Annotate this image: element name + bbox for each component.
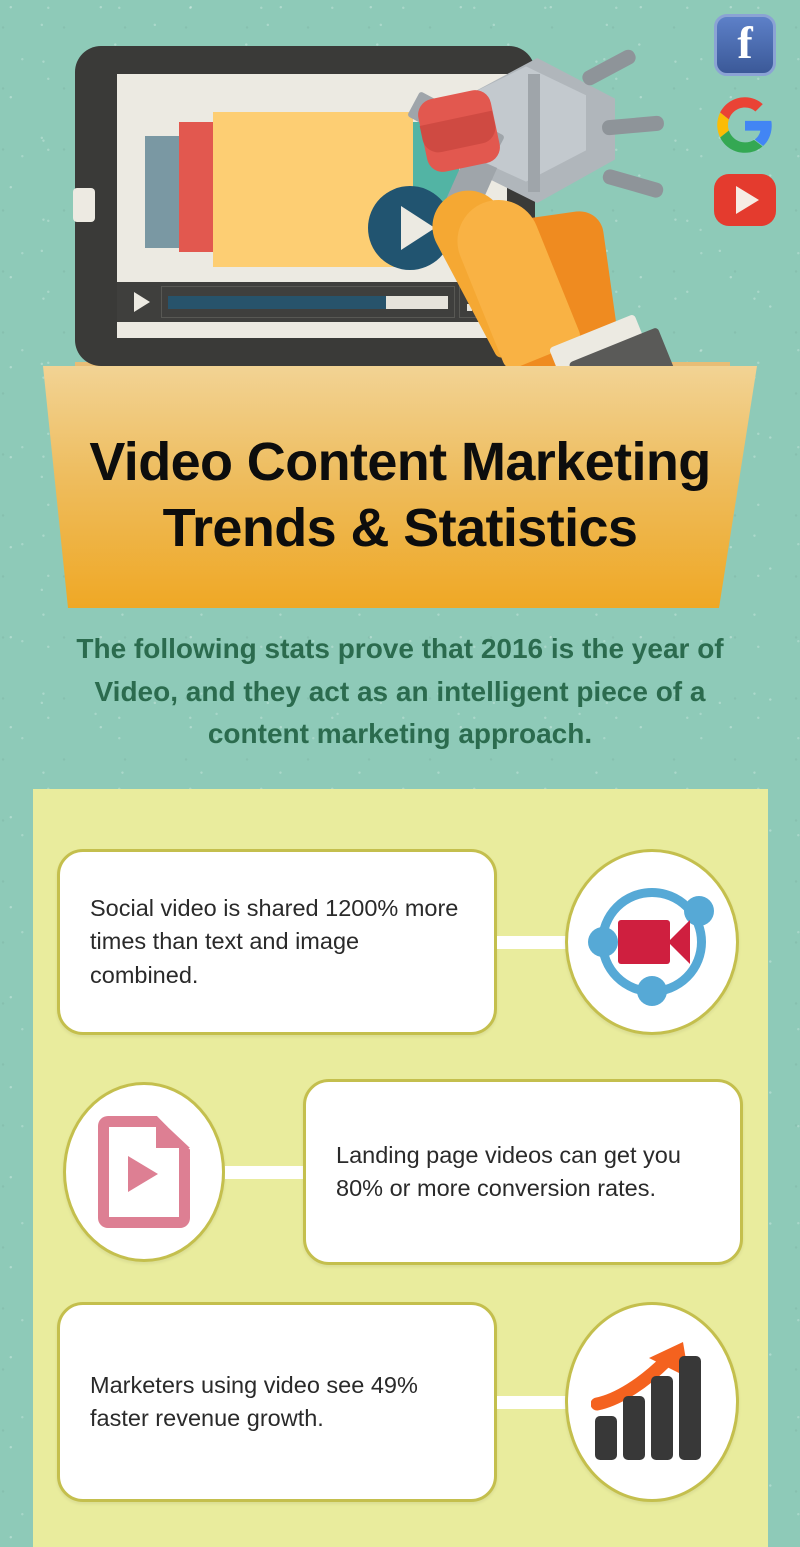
- stat-card[interactable]: Social video is shared 1200% more times …: [57, 849, 497, 1035]
- page-title-line-2: Trends & Statistics: [89, 496, 710, 562]
- page-title-line-1: Video Content Marketing: [89, 430, 710, 496]
- youtube-icon[interactable]: [714, 174, 776, 226]
- stat-icon-bubble[interactable]: [63, 1082, 225, 1262]
- social-icon-list: f: [714, 14, 786, 244]
- video-control-bar: [117, 282, 507, 322]
- subtitle-text: The following stats prove that 2016 is t…: [0, 628, 800, 756]
- stat-icon-bubble[interactable]: [565, 849, 739, 1035]
- facebook-icon[interactable]: f: [714, 14, 776, 76]
- video-share-icon: [592, 882, 712, 1002]
- hand-holding-megaphone: [455, 175, 665, 375]
- stat-connector: [497, 1396, 569, 1409]
- banner-shape: Video Content Marketing Trends & Statist…: [0, 366, 800, 608]
- page-title: Video Content Marketing Trends & Statist…: [49, 430, 750, 562]
- stat-connector: [225, 1166, 303, 1179]
- stat-card-text: Marketers using video see 49% faster rev…: [60, 1369, 494, 1436]
- stat-card-text: Social video is shared 1200% more times …: [60, 892, 494, 992]
- title-banner: Video Content Marketing Trends & Statist…: [0, 366, 800, 608]
- stat-row: Landing page videos can get you 80% or m…: [33, 1077, 768, 1267]
- share-node-dot: [588, 927, 618, 957]
- stats-panel: Social video is shared 1200% more times …: [33, 789, 768, 1547]
- growth-bar: [679, 1356, 701, 1460]
- infographic-page: f Video Content Marketing Trends & Stati…: [0, 0, 800, 1547]
- stat-connector: [497, 936, 569, 949]
- progress-fill: [168, 296, 386, 309]
- slide-block-yellow: [213, 112, 413, 267]
- sound-wave-icon: [580, 47, 638, 87]
- stat-card[interactable]: Landing page videos can get you 80% or m…: [303, 1079, 743, 1265]
- share-node-dot: [637, 976, 667, 1006]
- google-icon[interactable]: [714, 94, 776, 156]
- facebook-letter: f: [737, 20, 752, 66]
- document-fold-corner: [156, 1116, 190, 1148]
- growth-bar: [595, 1416, 617, 1460]
- google-g-glyph: [716, 96, 774, 154]
- stat-row: Marketers using video see 49% faster rev…: [33, 1307, 768, 1497]
- document-play-icon: [98, 1116, 190, 1228]
- hero-illustration: f: [0, 0, 800, 400]
- stat-row: Social video is shared 1200% more times …: [33, 847, 768, 1037]
- control-play-icon[interactable]: [123, 285, 157, 319]
- stat-card[interactable]: Marketers using video see 49% faster rev…: [57, 1302, 497, 1502]
- progress-background: [168, 296, 448, 309]
- stat-card-text: Landing page videos can get you 80% or m…: [306, 1139, 740, 1206]
- document-play-triangle-icon: [128, 1156, 158, 1192]
- growth-chart-icon: [591, 1344, 713, 1460]
- growth-bar: [651, 1376, 673, 1460]
- tablet-home-button[interactable]: [73, 188, 95, 222]
- video-camera-lens-icon: [668, 920, 690, 964]
- video-camera-body-icon: [618, 920, 670, 964]
- growth-bar: [623, 1396, 645, 1460]
- video-progress-track[interactable]: [161, 286, 455, 318]
- stat-icon-bubble[interactable]: [565, 1302, 739, 1502]
